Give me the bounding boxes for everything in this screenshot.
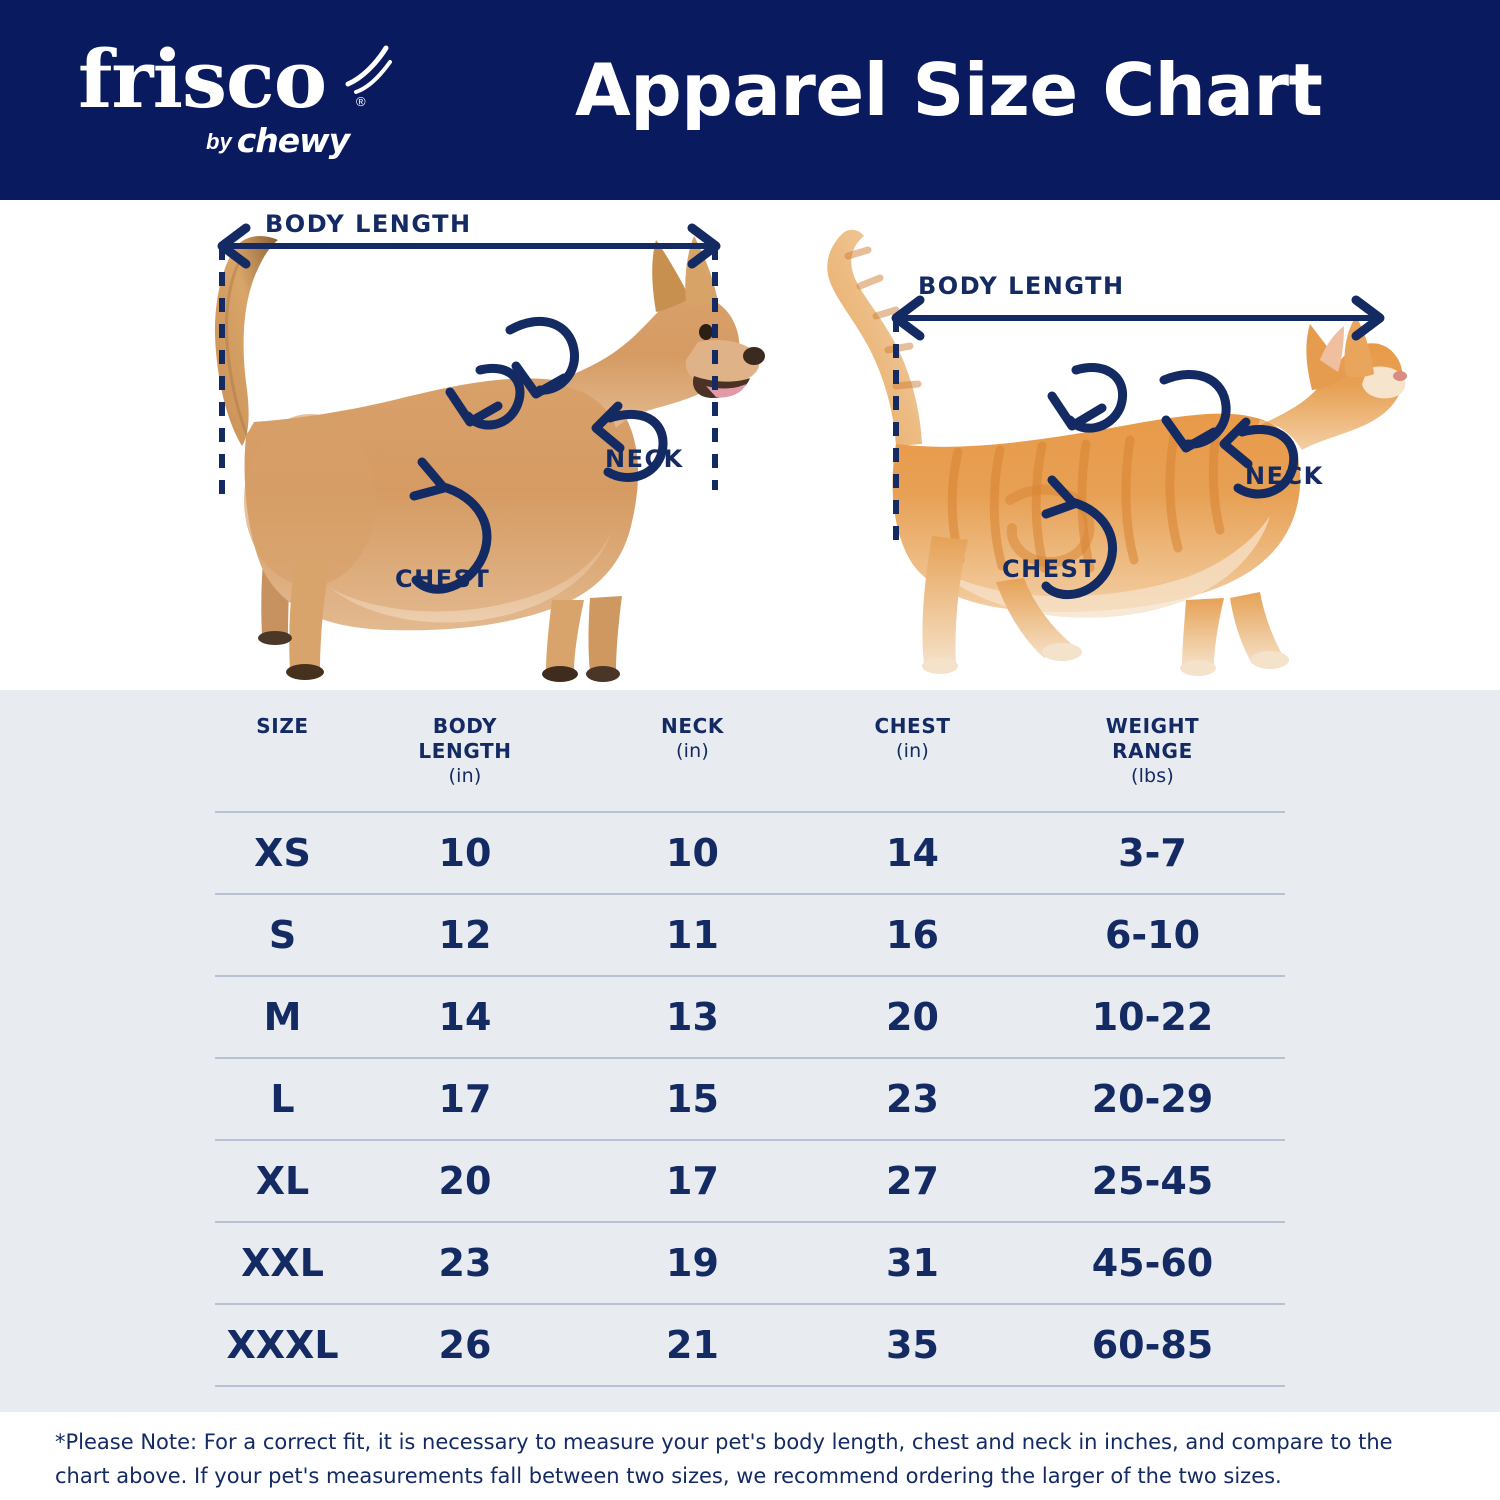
cell-weight: 25-45: [1020, 1140, 1285, 1222]
cell-weight: 20-29: [1020, 1058, 1285, 1140]
logo-by-label: by: [206, 127, 232, 157]
table-header-row: SIZE BODY LENGTH (in) NECK (in) CHEST (i…: [215, 690, 1285, 812]
cell-chest: 20: [805, 976, 1020, 1058]
logo-chewy-label: chewy: [237, 124, 349, 157]
illustration-section: BODY LENGTH NECK CHEST: [0, 200, 1500, 690]
cell-chest: 27: [805, 1140, 1020, 1222]
cell-body-length: 23: [350, 1222, 580, 1304]
cell-size: M: [215, 976, 350, 1058]
column-header-neck: NECK (in): [580, 690, 805, 812]
cell-weight: 10-22: [1020, 976, 1285, 1058]
cell-neck: 21: [580, 1304, 805, 1386]
column-header-length-label: LENGTH: [418, 739, 511, 763]
cell-body-length: 20: [350, 1140, 580, 1222]
column-header-range-label: RANGE: [1112, 739, 1193, 763]
table-body: XS 10 10 14 3-7 S 12 11 16 6-10 M 14 13: [215, 812, 1285, 1386]
cell-neck: 19: [580, 1222, 805, 1304]
cell-weight: 60-85: [1020, 1304, 1285, 1386]
cell-neck: 10: [580, 812, 805, 894]
cell-neck: 17: [580, 1140, 805, 1222]
cell-body-length: 17: [350, 1058, 580, 1140]
cell-weight: 45-60: [1020, 1222, 1285, 1304]
column-header-neck-unit: (in): [580, 739, 805, 764]
column-header-weight-range: WEIGHT RANGE (lbs): [1020, 690, 1285, 812]
logo-sublabel: by chewy: [206, 124, 349, 157]
cell-size: S: [215, 894, 350, 976]
cat-body-length-label: BODY LENGTH: [918, 272, 1125, 300]
cell-body-length: 10: [350, 812, 580, 894]
cell-body-length: 14: [350, 976, 580, 1058]
column-header-chest: CHEST (in): [805, 690, 1020, 812]
dog-body-length-label: BODY LENGTH: [265, 210, 472, 238]
dog-chest-label: CHEST: [395, 565, 490, 593]
column-header-size: SIZE: [215, 690, 350, 812]
cat-diagram: BODY LENGTH NECK CHEST: [790, 200, 1410, 690]
column-header-chest-label: CHEST: [874, 714, 950, 738]
footnote-text: *Please Note: For a correct fit, it is n…: [55, 1425, 1445, 1493]
cell-chest: 16: [805, 894, 1020, 976]
header-band: frisco ® by chewy Apparel Size Chart: [0, 0, 1500, 200]
column-header-neck-label: NECK: [661, 714, 724, 738]
cell-size: L: [215, 1058, 350, 1140]
cell-size: XL: [215, 1140, 350, 1222]
column-header-body-label: BODY: [433, 714, 497, 738]
table-row: XXXL 26 21 35 60-85: [215, 1304, 1285, 1386]
cell-chest: 23: [805, 1058, 1020, 1140]
cell-body-length: 12: [350, 894, 580, 976]
cell-body-length: 26: [350, 1304, 580, 1386]
cell-neck: 11: [580, 894, 805, 976]
table-row: XXL 23 19 31 45-60: [215, 1222, 1285, 1304]
cell-size: XXXL: [215, 1304, 350, 1386]
frisco-logo: frisco ® by chewy: [78, 36, 378, 166]
table-row: L 17 15 23 20-29: [215, 1058, 1285, 1140]
cell-size: XS: [215, 812, 350, 894]
cell-weight: 3-7: [1020, 812, 1285, 894]
cell-chest: 35: [805, 1304, 1020, 1386]
column-header-body-unit: (in): [350, 764, 580, 789]
apparel-size-table: SIZE BODY LENGTH (in) NECK (in) CHEST (i…: [215, 690, 1285, 1387]
column-header-body-length: BODY LENGTH (in): [350, 690, 580, 812]
page-title: Apparel Size Chart: [575, 48, 1322, 132]
size-table-section: SIZE BODY LENGTH (in) NECK (in) CHEST (i…: [0, 690, 1500, 1412]
cell-size: XXL: [215, 1222, 350, 1304]
table-row: M 14 13 20 10-22: [215, 976, 1285, 1058]
column-header-size-label: SIZE: [256, 714, 308, 738]
cell-chest: 31: [805, 1222, 1020, 1304]
cell-neck: 13: [580, 976, 805, 1058]
size-chart-page: frisco ® by chewy Apparel Size Chart: [0, 0, 1500, 1500]
registered-trademark-icon: ®: [356, 94, 366, 109]
cat-chest-label: CHEST: [1002, 555, 1097, 583]
column-header-chest-unit: (in): [805, 739, 1020, 764]
cell-neck: 15: [580, 1058, 805, 1140]
cell-weight: 6-10: [1020, 894, 1285, 976]
column-header-weight-label: WEIGHT: [1106, 714, 1200, 738]
table-row: S 12 11 16 6-10: [215, 894, 1285, 976]
cat-neck-label: NECK: [1245, 462, 1324, 490]
table-row: XS 10 10 14 3-7: [215, 812, 1285, 894]
cell-chest: 14: [805, 812, 1020, 894]
logo-wordmark: frisco: [78, 36, 326, 122]
dog-neck-label: NECK: [605, 445, 684, 473]
logo-whisker-icon: [336, 44, 396, 104]
table-row: XL 20 17 27 25-45: [215, 1140, 1285, 1222]
column-header-weight-unit: (lbs): [1020, 764, 1285, 789]
dog-diagram: BODY LENGTH NECK CHEST: [150, 200, 770, 690]
